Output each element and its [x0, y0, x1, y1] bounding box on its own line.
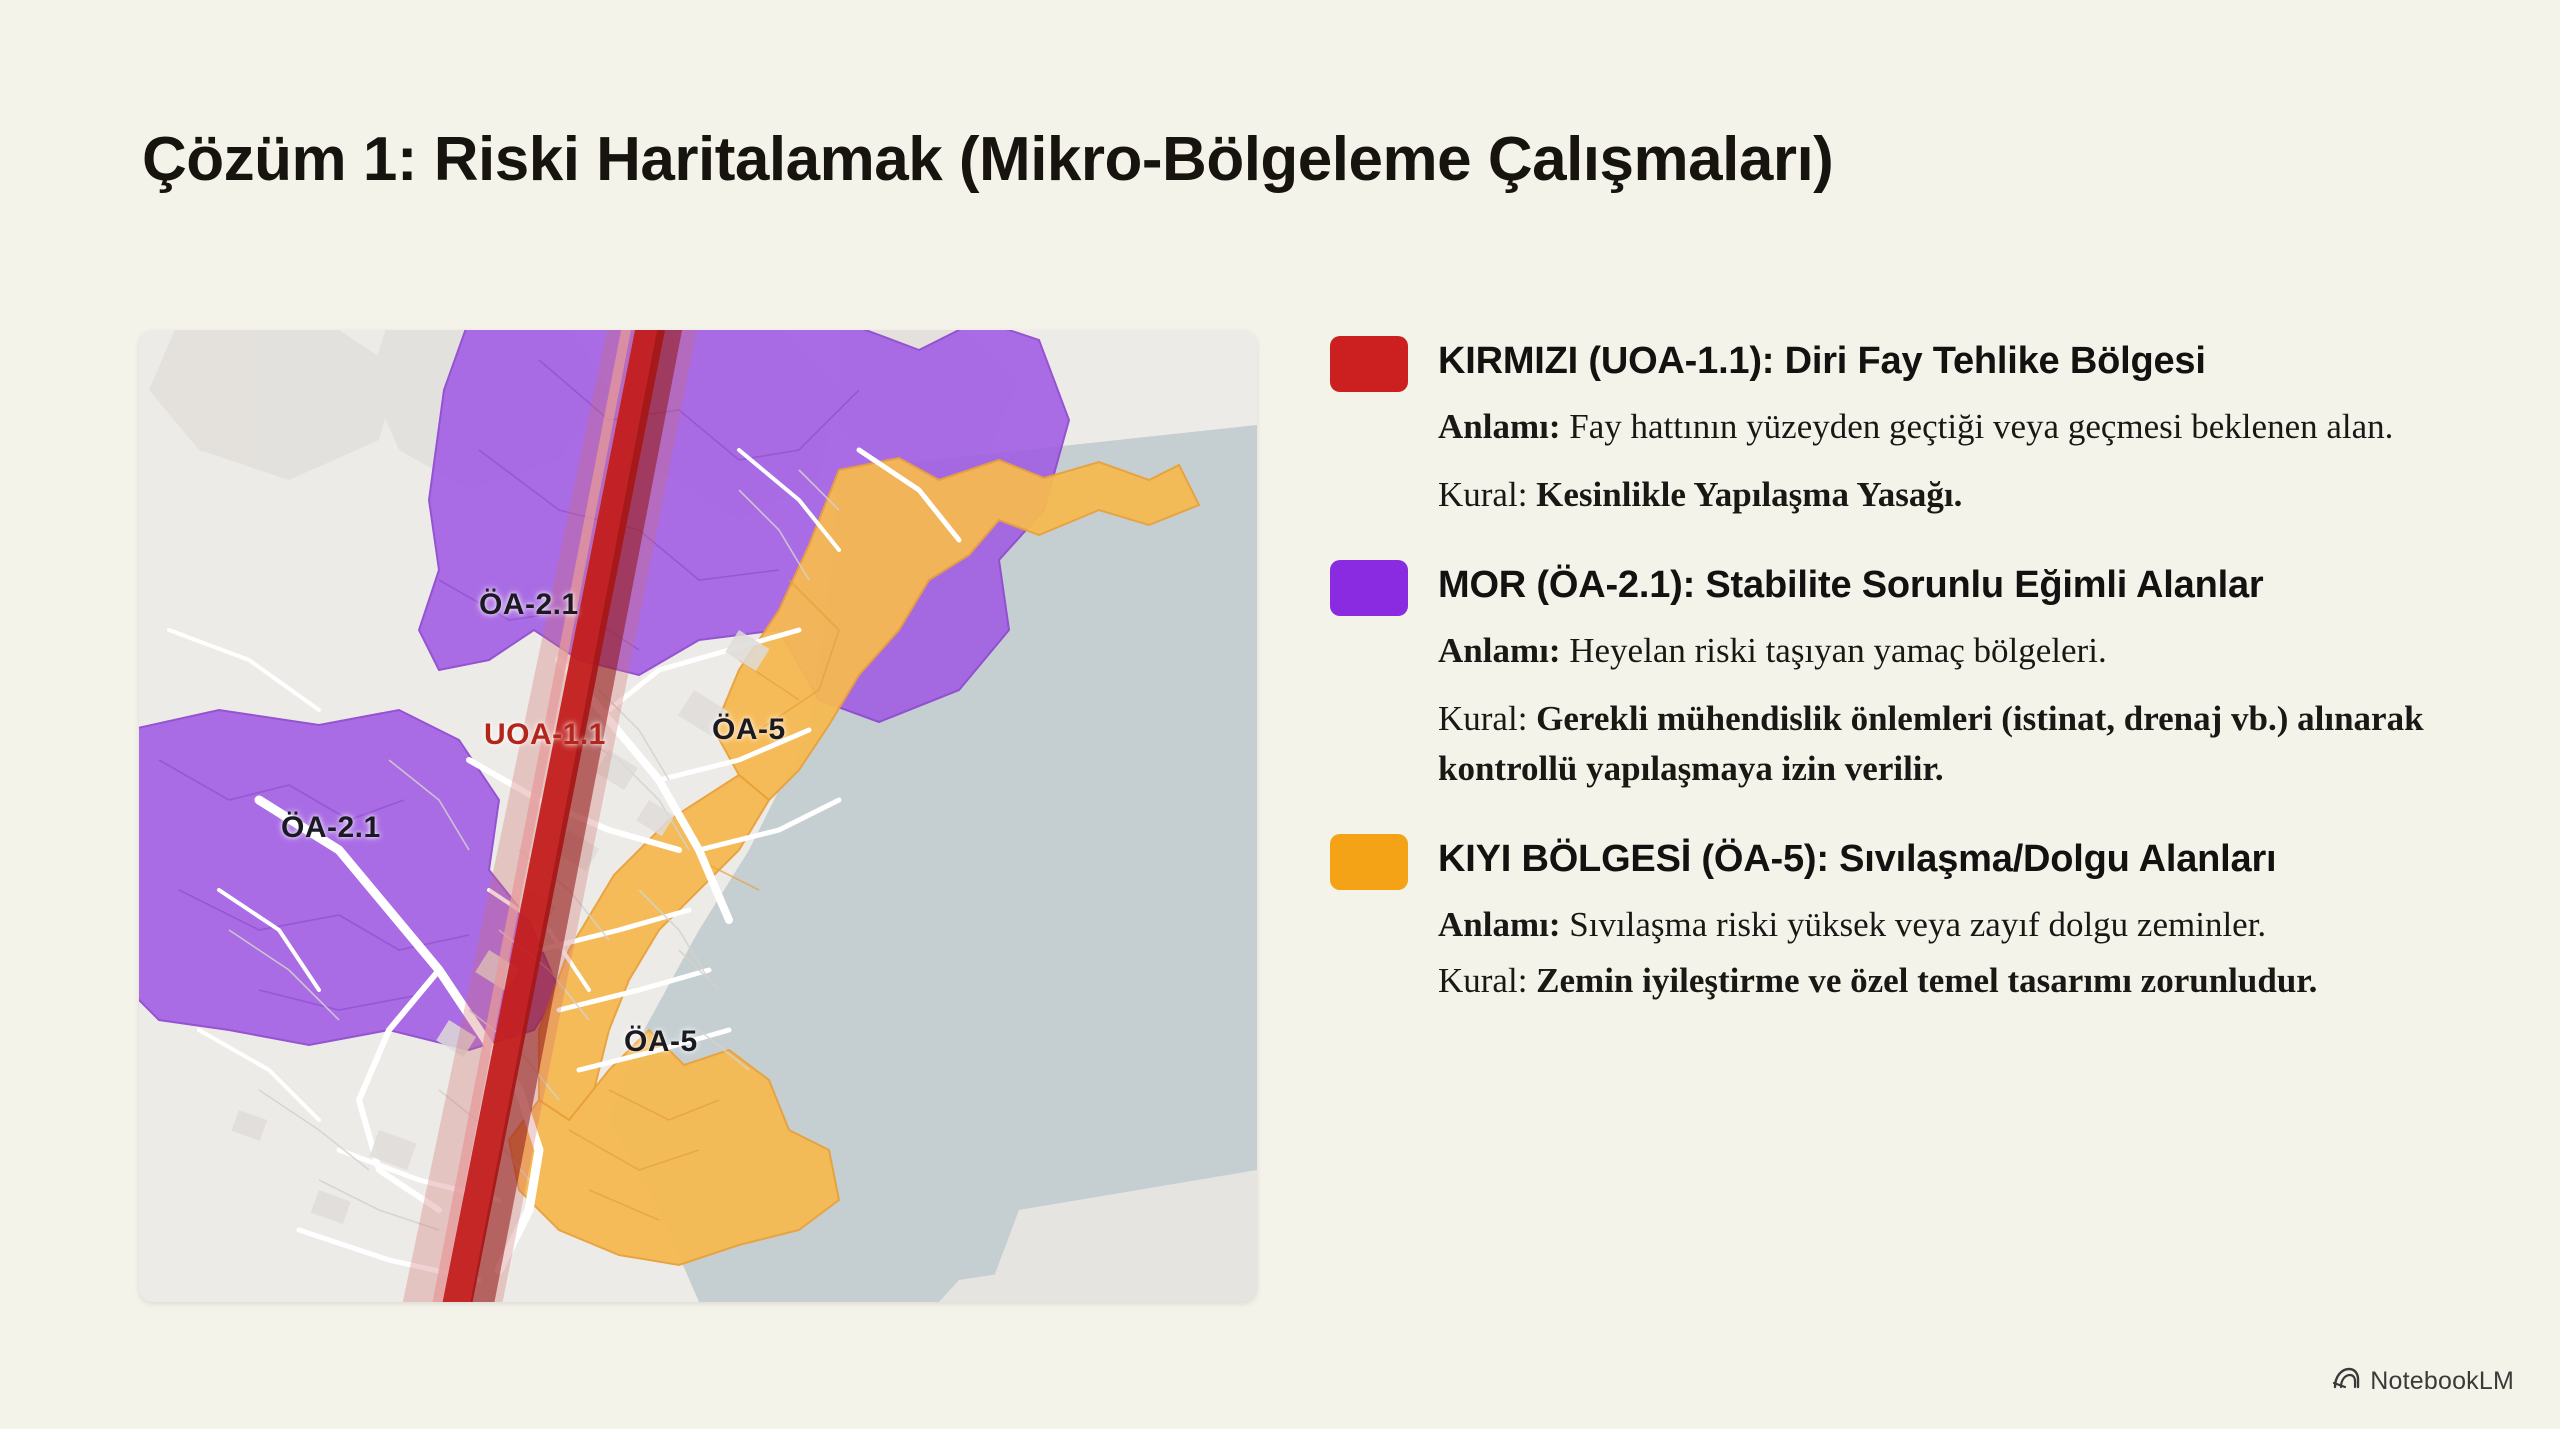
- legend-rule-label-kiyi: Kural:: [1438, 961, 1527, 1000]
- legend-rule-text-kirmizi: Kesinlikle Yapılaşma Yasağı.: [1527, 475, 1962, 514]
- legend-title-mor: MOR (ÖA-2.1): Stabilite Sorunlu Eğimli A…: [1438, 554, 2470, 610]
- page-title: Çözüm 1: Riski Haritalamak (Mikro-Bölgel…: [142, 122, 2442, 198]
- legend-meaning-text-kirmizi: Fay hattının yüzeyden geçtiği veya geçme…: [1561, 407, 2394, 446]
- legend-meaning-text-kiyi: Sıvılaşma riski yüksek veya zayıf dolgu …: [1561, 905, 2267, 944]
- risk-map-panel[interactable]: ÖA-2.1 UOA-1.1 ÖA-5 ÖA-2.1 ÖA-5: [139, 330, 1257, 1302]
- legend-meaning-kirmizi: Anlamı: Fay hattının yüzeyden geçtiği ve…: [1438, 402, 2458, 452]
- map-canvas: [139, 330, 1257, 1302]
- legend-body-kirmizi: Anlamı: Fay hattının yüzeyden geçtiği ve…: [1438, 402, 2458, 520]
- risk-legend: KIRMIZI (UOA-1.1): Diri Fay Tehlike Bölg…: [1330, 330, 2470, 1040]
- orange-swatch: [1330, 834, 1408, 890]
- legend-meaning-label-kiyi: Anlamı:: [1438, 905, 1561, 944]
- legend-meaning-label-kirmizi: Anlamı:: [1438, 407, 1561, 446]
- purple-swatch: [1330, 560, 1408, 616]
- legend-body-mor: Anlamı: Heyelan riski taşıyan yamaç bölg…: [1438, 626, 2458, 794]
- legend-body-kiyi: Anlamı: Sıvılaşma riski yüksek veya zayı…: [1438, 900, 2458, 1006]
- legend-meaning-kiyi: Anlamı: Sıvılaşma riski yüksek veya zayı…: [1438, 900, 2458, 950]
- legend-meaning-mor: Anlamı: Heyelan riski taşıyan yamaç bölg…: [1438, 626, 2458, 676]
- notebooklm-watermark: NotebookLM: [2332, 1366, 2514, 1397]
- legend-rule-kiyi: Kural: Zemin iyileştirme ve özel temel t…: [1438, 956, 2458, 1006]
- legend-rule-label-mor: Kural:: [1438, 699, 1527, 738]
- legend-meaning-text-mor: Heyelan riski taşıyan yamaç bölgeleri.: [1561, 631, 2107, 670]
- notebooklm-label: NotebookLM: [2370, 1367, 2514, 1396]
- legend-rule-mor: Kural: Gerekli mühendislik önlemleri (is…: [1438, 694, 2458, 794]
- legend-rule-label-kirmizi: Kural:: [1438, 475, 1527, 514]
- legend-rule-text-mor: Gerekli mühendislik önlemleri (istinat, …: [1438, 699, 2424, 788]
- legend-title-kiyi: KIYI BÖLGESİ (ÖA-5): Sıvılaşma/Dolgu Ala…: [1438, 828, 2470, 884]
- red-swatch: [1330, 336, 1408, 392]
- legend-meaning-label-mor: Anlamı:: [1438, 631, 1561, 670]
- legend-item-kiyi[interactable]: KIYI BÖLGESİ (ÖA-5): Sıvılaşma/Dolgu Ala…: [1330, 828, 2470, 1006]
- legend-title-kirmizi: KIRMIZI (UOA-1.1): Diri Fay Tehlike Bölg…: [1438, 330, 2470, 386]
- legend-rule-kirmizi: Kural: Kesinlikle Yapılaşma Yasağı.: [1438, 470, 2458, 520]
- legend-item-kirmizi[interactable]: KIRMIZI (UOA-1.1): Diri Fay Tehlike Bölg…: [1330, 330, 2470, 520]
- legend-item-mor[interactable]: MOR (ÖA-2.1): Stabilite Sorunlu Eğimli A…: [1330, 554, 2470, 794]
- notebooklm-icon: [2332, 1366, 2360, 1397]
- legend-rule-text-kiyi: Zemin iyileştirme ve özel temel tasarımı…: [1527, 961, 2317, 1000]
